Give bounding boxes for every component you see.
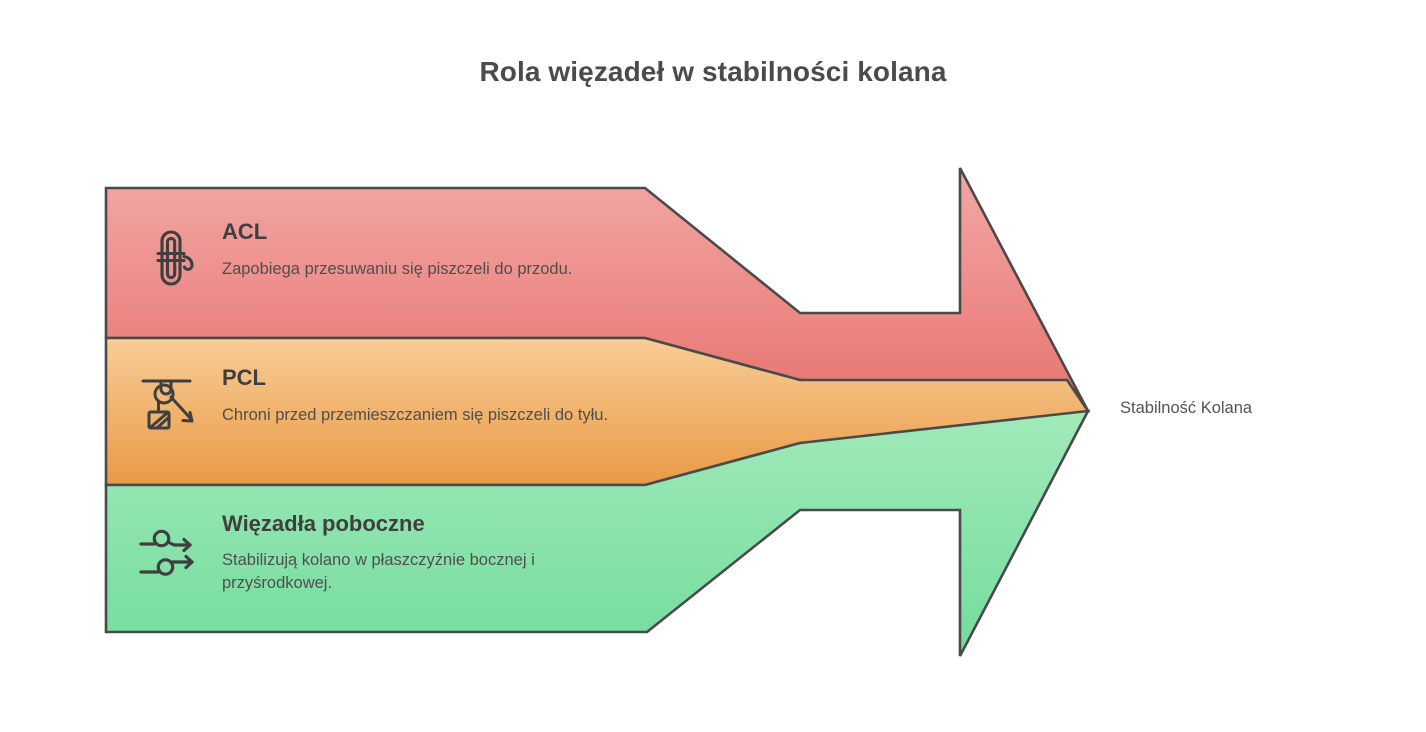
band-text-acl: ACL Zapobiega przesuwaniu się piszczeli … [222,219,622,281]
band-heading-collateral: Więzadła poboczne [222,511,642,536]
outcome-label: Stabilność Kolana [1120,399,1252,418]
chevron-arrow-diagram [0,0,1426,732]
band-description-collateral: Stabilizują kolano w płaszczyźnie boczne… [222,549,642,594]
diagram-root: Rola więzadeł w stabilności kolana [0,0,1426,732]
coiled-rope-icon [140,227,202,289]
band-description-acl: Zapobiega przesuwaniu się piszczeli do p… [222,258,622,280]
band-description-pcl: Chroni przed przemieszczaniem się piszcz… [222,404,652,426]
band-text-collateral: Więzadła poboczne Stabilizują kolano w p… [222,511,642,594]
parallel-arrows-icon [138,524,200,586]
band-heading-acl: ACL [222,219,622,244]
band-text-pcl: PCL Chroni przed przemieszczaniem się pi… [222,365,652,427]
pulley-weight-icon [140,372,202,434]
band-heading-pcl: PCL [222,365,652,390]
